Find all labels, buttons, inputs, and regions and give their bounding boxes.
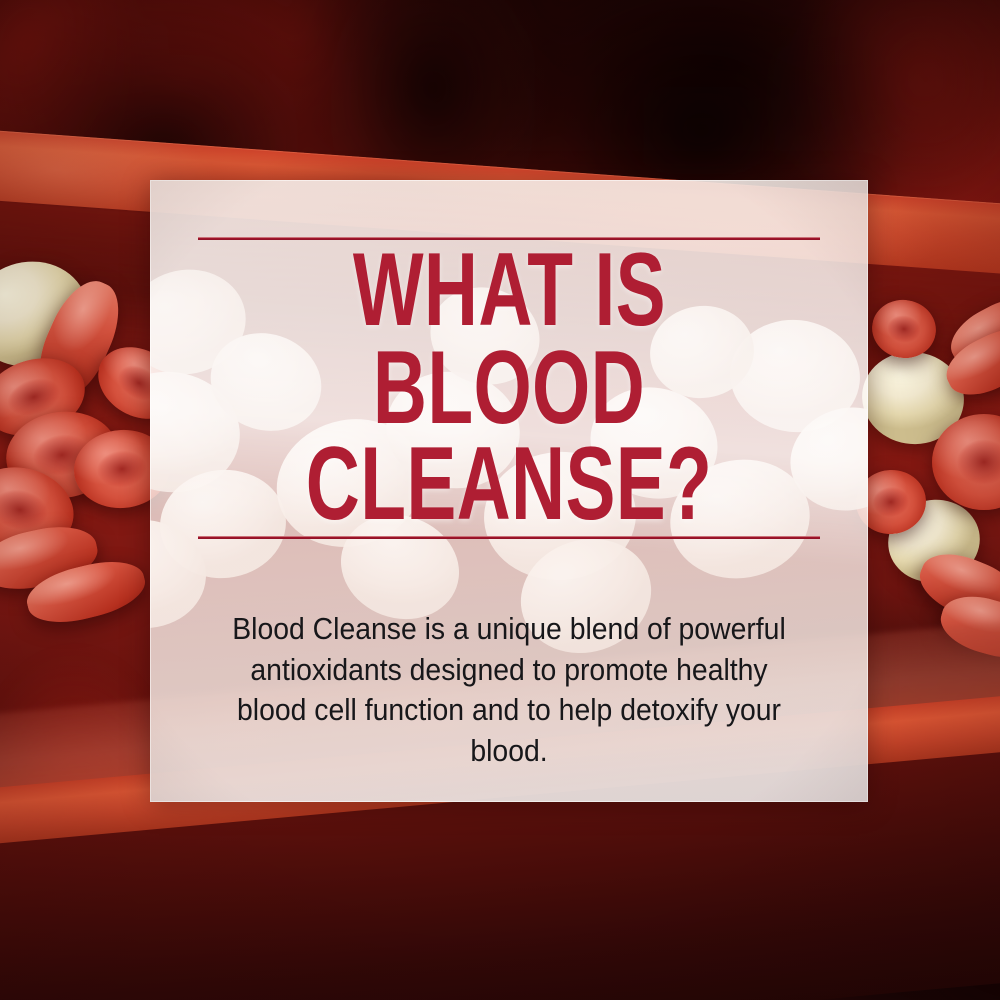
page-title: WHAT IS BLOOD CLEANSE? xyxy=(198,240,820,536)
body-text: Blood Cleanse is a unique blend of power… xyxy=(220,569,798,771)
panel-content: WHAT IS BLOOD CLEANSE? Blood Cleanse is … xyxy=(150,180,868,802)
red-blood-cell xyxy=(867,295,940,363)
title-line-1: WHAT IS xyxy=(352,243,665,339)
content-panel: WHAT IS BLOOD CLEANSE? Blood Cleanse is … xyxy=(150,180,868,802)
blood-cleanse-graphic: WHAT IS BLOOD CLEANSE? Blood Cleanse is … xyxy=(0,0,1000,1000)
title-line-2: BLOOD CLEANSE? xyxy=(285,341,733,532)
